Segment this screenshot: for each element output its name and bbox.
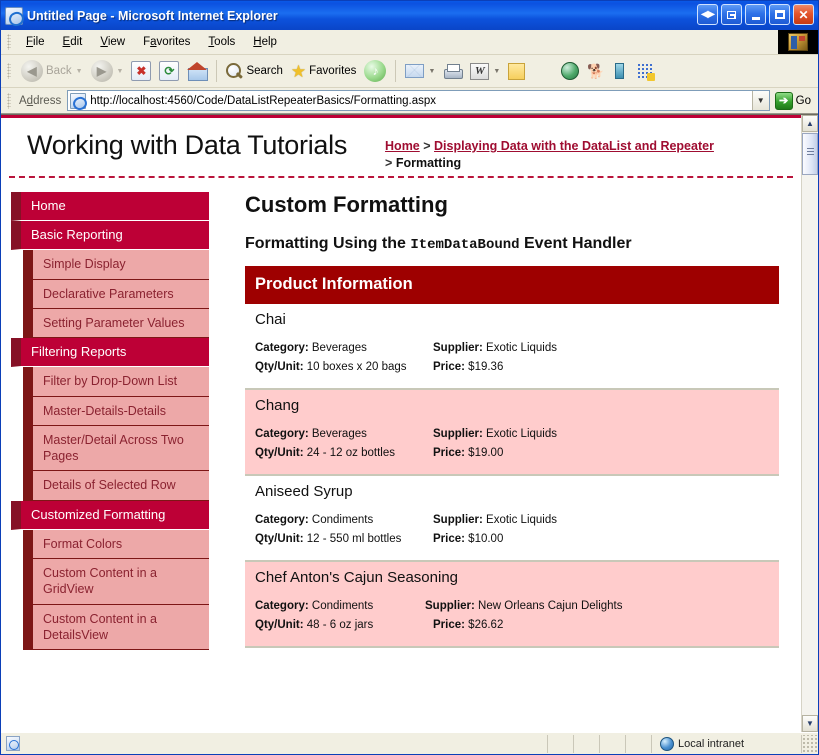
qty-label: Qty/Unit: xyxy=(255,361,304,373)
forward-dropdown-icon[interactable]: ▼ xyxy=(117,68,124,75)
supplier-label: Supplier: xyxy=(425,600,475,612)
sidebar-item-declarative-parameters[interactable]: Declarative Parameters xyxy=(23,280,209,309)
product-row-2: Qty/Unit: 10 boxes x 20 bags Price: $19.… xyxy=(255,361,769,373)
section-heading-post: Event Handler xyxy=(520,235,632,252)
menu-bar: File Edit View Favorites Tools Help xyxy=(1,30,818,55)
edit-dropdown-icon[interactable]: ▼ xyxy=(493,68,500,75)
price-value: $26.62 xyxy=(468,619,503,631)
status-cell-2 xyxy=(574,735,600,753)
section-heading-pre: Formatting Using the xyxy=(245,235,410,252)
sidebar-item-simple-display[interactable]: Simple Display xyxy=(23,250,209,279)
sidebar-item-custom-content-in-a-gridview[interactable]: Custom Content in a GridView xyxy=(23,559,209,605)
menu-item-file[interactable]: File xyxy=(17,33,54,51)
window-title: Untitled Page - Microsoft Internet Explo… xyxy=(27,9,278,23)
qty-value: 12 - 550 ml bottles xyxy=(307,533,402,545)
notes-button[interactable] xyxy=(504,58,529,85)
mail-icon xyxy=(405,64,424,78)
price-label: Price: xyxy=(433,533,465,545)
local-intranet-globe-icon xyxy=(660,737,674,751)
category-value: Beverages xyxy=(312,342,367,354)
toolbar-separator-2 xyxy=(395,60,396,82)
category-label: Category: xyxy=(255,342,309,354)
status-bar: Local intranet xyxy=(1,732,818,754)
toolbar-grip-handle[interactable] xyxy=(7,63,11,79)
maximize-button[interactable] xyxy=(769,4,790,25)
sidebar-item-customized-formatting[interactable]: Customized Formatting xyxy=(11,501,209,530)
price-value: $10.00 xyxy=(468,533,503,545)
realplayer-button[interactable]: 🐕 xyxy=(583,58,608,85)
toolbar-separator xyxy=(216,60,217,82)
page-body: Home Basic Reporting Simple Display Decl… xyxy=(1,178,801,650)
supplier-value: Exotic Liquids xyxy=(486,514,557,526)
back-button[interactable]: ◀ Back ▼ xyxy=(17,58,87,85)
vertical-scrollbar[interactable]: ▲ ▼ xyxy=(801,115,818,732)
sidebar-item-custom-content-in-a-detailsview[interactable]: Custom Content in a DetailsView xyxy=(23,605,209,651)
price-label: Price: xyxy=(433,619,465,631)
product-row-1: Category: Beverages Supplier: Exotic Liq… xyxy=(255,342,769,354)
status-cell-1 xyxy=(548,735,574,753)
restore-split-button[interactable]: ◀▶ xyxy=(697,4,718,25)
close-button[interactable]: ✕ xyxy=(793,4,814,25)
title-bar: Untitled Page - Microsoft Internet Explo… xyxy=(1,1,818,30)
category-value: Beverages xyxy=(312,428,367,440)
sidebar-item-details-of-selected-row[interactable]: Details of Selected Row xyxy=(23,471,209,500)
product-name: Aniseed Syrup xyxy=(255,483,769,500)
qty-value: 48 - 6 oz jars xyxy=(307,619,373,631)
search-button[interactable]: Search xyxy=(222,58,286,85)
qty-label: Qty/Unit: xyxy=(255,533,304,545)
supplier-label: Supplier: xyxy=(433,514,483,526)
supplier-value: New Orleans Cajun Delights xyxy=(478,600,622,612)
address-grip-handle[interactable] xyxy=(7,93,11,109)
category-value: Condiments xyxy=(312,600,373,612)
notes-icon xyxy=(508,63,525,80)
back-icon: ◀ xyxy=(21,60,43,82)
breadcrumb-current: Formatting xyxy=(396,156,461,170)
sidebar-item-filter-by-drop-down-list[interactable]: Filter by Drop-Down List xyxy=(23,367,209,396)
product-item[interactable]: Aniseed Syrup Category: Condiments Suppl… xyxy=(245,476,779,562)
menu-item-edit[interactable]: Edit xyxy=(54,33,92,51)
category-label: Category: xyxy=(255,600,309,612)
address-dropdown-icon[interactable]: ▼ xyxy=(752,91,769,110)
product-row-2: Qty/Unit: 48 - 6 oz jars Price: $26.62 xyxy=(255,619,769,631)
breadcrumb-separator-2: > xyxy=(385,156,396,170)
address-url-text: http://localhost:4560/Code/DataListRepea… xyxy=(90,95,751,107)
menu-item-tools[interactable]: Tools xyxy=(199,33,244,51)
category-label: Category: xyxy=(255,428,309,440)
section-heading: Formatting Using the ItemDataBound Event… xyxy=(245,234,779,254)
toolbar: ◀ Back ▼ ▶ ▼ ✖ ⟳ Search ★ Favorites ♪ xyxy=(1,55,818,88)
scroll-up-button[interactable]: ▲ xyxy=(802,115,818,132)
restore-window-button[interactable] xyxy=(721,4,742,25)
product-item[interactable]: Chef Anton's Cajun Seasoning Category: C… xyxy=(245,562,779,648)
refresh-icon: ⟳ xyxy=(159,61,179,81)
status-cell-3 xyxy=(600,735,626,753)
encarta-icon xyxy=(637,63,654,80)
product-item[interactable]: Chai Category: Beverages Supplier: Exoti… xyxy=(245,304,779,390)
price-value: $19.00 xyxy=(468,447,503,459)
product-row-1: Category: Condiments Supplier: New Orlea… xyxy=(255,600,769,612)
sidebar-item-filtering-reports[interactable]: Filtering Reports xyxy=(11,338,209,367)
go-button[interactable]: ➔ Go xyxy=(770,92,816,110)
main-content: Custom Formatting Formatting Using the I… xyxy=(209,192,801,650)
encarta-button[interactable] xyxy=(633,58,658,85)
supplier-label: Supplier: xyxy=(433,342,483,354)
product-row-2: Qty/Unit: 12 - 550 ml bottles Price: $10… xyxy=(255,533,769,545)
address-label: Address xyxy=(17,95,67,107)
favorites-star-icon: ★ xyxy=(291,63,306,80)
web-page: Working with Data Tutorials Home > Displ… xyxy=(1,115,801,732)
breadcrumb-separator-1: > xyxy=(420,139,434,153)
breadcrumb-link-home[interactable]: Home xyxy=(385,139,420,153)
back-dropdown-icon[interactable]: ▼ xyxy=(76,68,83,75)
sidebar-item-format-colors[interactable]: Format Colors xyxy=(23,530,209,559)
status-zone-label: Local intranet xyxy=(678,738,744,750)
print-icon xyxy=(443,64,462,79)
menu-item-help[interactable]: Help xyxy=(244,33,286,51)
qty-label: Qty/Unit: xyxy=(255,447,304,459)
menu-item-view[interactable]: View xyxy=(91,33,134,51)
product-name: Chef Anton's Cajun Seasoning xyxy=(255,569,769,586)
ie-page-icon xyxy=(5,7,23,25)
section-heading-code: ItemDataBound xyxy=(410,237,519,253)
product-name: Chang xyxy=(255,397,769,414)
window-controls: ◀▶ ✕ xyxy=(697,4,814,25)
forward-icon: ▶ xyxy=(91,60,113,82)
edit-word-icon: W xyxy=(470,63,489,80)
supplier-label: Supplier: xyxy=(433,428,483,440)
sidebar-item-setting-parameter-values[interactable]: Setting Parameter Values xyxy=(23,309,209,338)
mail-button[interactable]: ▼ xyxy=(401,58,439,85)
status-page-icon xyxy=(6,736,20,751)
price-label: Price: xyxy=(433,447,465,459)
print-button[interactable] xyxy=(439,58,466,85)
scrollbar-track[interactable] xyxy=(802,132,818,715)
sidebar-item-master-detail-across-two-pages[interactable]: Master/Detail Across Two Pages xyxy=(23,426,209,472)
search-icon xyxy=(226,63,243,80)
qty-value: 24 - 12 oz bottles xyxy=(307,447,395,459)
home-button[interactable] xyxy=(183,58,211,85)
sidebar-item-basic-reporting[interactable]: Basic Reporting xyxy=(11,221,209,250)
research-icon xyxy=(613,63,629,80)
messenger-button[interactable] xyxy=(557,58,583,85)
status-cell-4 xyxy=(626,735,652,753)
refresh-button[interactable]: ⟳ xyxy=(155,58,183,85)
breadcrumb: Home > Displaying Data with the DataList… xyxy=(385,128,715,172)
product-item[interactable]: Chang Category: Beverages Supplier: Exot… xyxy=(245,390,779,476)
forward-button[interactable]: ▶ ▼ xyxy=(87,58,128,85)
category-label: Category: xyxy=(255,514,309,526)
site-title: Working with Data Tutorials xyxy=(27,128,347,161)
product-row-1: Category: Condiments Supplier: Exotic Li… xyxy=(255,514,769,526)
go-arrow-icon: ➔ xyxy=(775,92,793,110)
real-player-icon: 🐕 xyxy=(587,64,604,78)
status-badge[interactable]: Local intranet xyxy=(652,735,802,753)
supplier-value: Exotic Liquids xyxy=(486,428,557,440)
page-title: Custom Formatting xyxy=(245,192,779,218)
minimize-button[interactable] xyxy=(745,4,766,25)
supplier-value: Exotic Liquids xyxy=(486,342,557,354)
page-icon xyxy=(70,93,86,109)
price-label: Price: xyxy=(433,361,465,373)
stop-icon: ✖ xyxy=(131,61,151,81)
stop-button[interactable]: ✖ xyxy=(127,58,155,85)
page-header: Working with Data Tutorials Home > Displ… xyxy=(9,118,793,178)
datalist-header: Product Information xyxy=(245,266,779,304)
media-button[interactable]: ♪ xyxy=(360,58,390,85)
home-icon xyxy=(187,62,207,80)
research-button[interactable] xyxy=(609,58,633,85)
messenger-globe-icon xyxy=(561,62,579,80)
category-value: Condiments xyxy=(312,514,373,526)
sidebar-item-master-details-details[interactable]: Master-Details-Details xyxy=(23,397,209,426)
favorites-button[interactable]: ★ Favorites xyxy=(287,58,361,85)
price-value: $19.36 xyxy=(468,361,503,373)
breadcrumb-link-section[interactable]: Displaying Data with the DataList and Re… xyxy=(434,139,714,153)
product-row-1: Category: Beverages Supplier: Exotic Liq… xyxy=(255,428,769,440)
toolbar-separator-3 xyxy=(534,60,552,82)
sidebar-item-home[interactable]: Home xyxy=(11,192,209,221)
product-name: Chai xyxy=(255,311,769,328)
resize-grip[interactable] xyxy=(802,735,818,753)
sidebar-nav: Home Basic Reporting Simple Display Decl… xyxy=(1,192,209,650)
address-bar: Address http://localhost:4560/Code/DataL… xyxy=(1,88,818,114)
browser-window: Untitled Page - Microsoft Internet Explo… xyxy=(0,0,819,755)
page-viewport: Working with Data Tutorials Home > Displ… xyxy=(1,114,818,732)
edit-button[interactable]: W ▼ xyxy=(466,58,504,85)
address-input[interactable]: http://localhost:4560/Code/DataListRepea… xyxy=(67,90,769,111)
product-row-2: Qty/Unit: 24 - 12 oz bottles Price: $19.… xyxy=(255,447,769,459)
mail-dropdown-icon[interactable]: ▼ xyxy=(428,68,435,75)
media-icon: ♪ xyxy=(364,60,386,82)
status-message xyxy=(24,735,548,753)
scroll-down-button[interactable]: ▼ xyxy=(802,715,818,732)
qty-label: Qty/Unit: xyxy=(255,619,304,631)
scrollbar-thumb[interactable] xyxy=(802,133,818,175)
menu-grip-handle[interactable] xyxy=(7,34,11,50)
qty-value: 10 boxes x 20 bags xyxy=(307,361,407,373)
ie-brand-logo xyxy=(778,30,818,54)
menu-item-favorites[interactable]: Favorites xyxy=(134,33,199,51)
